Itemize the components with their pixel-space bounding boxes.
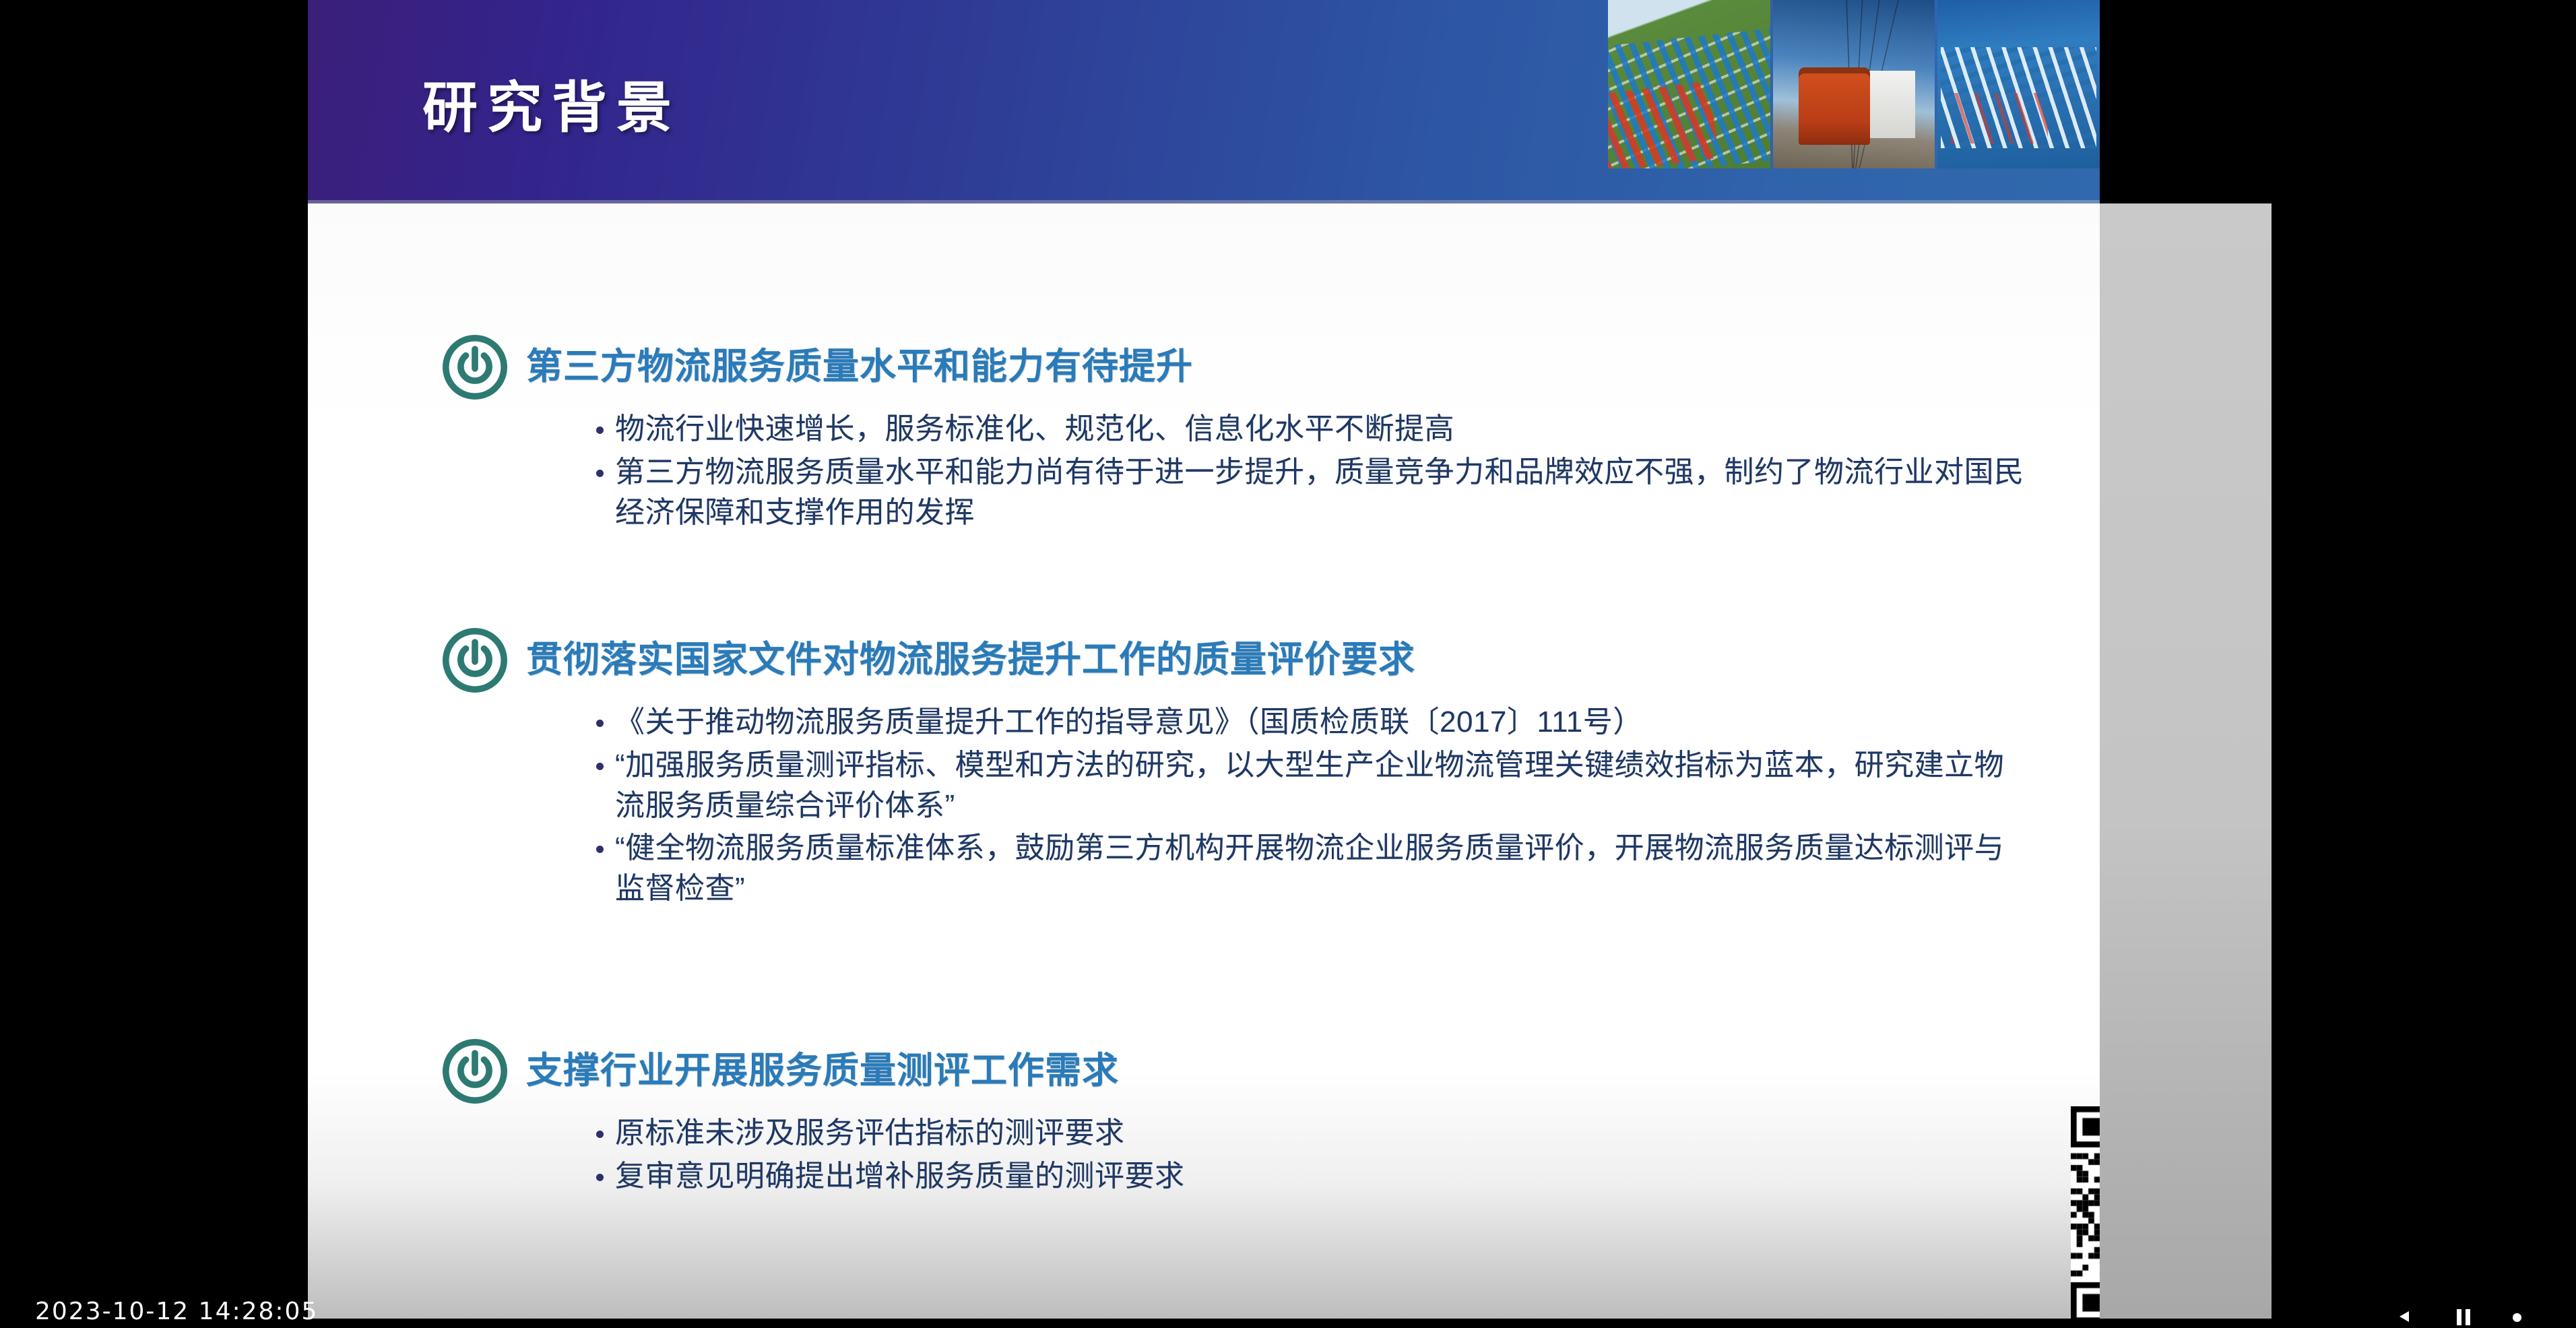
logistics-park-aerial-photo — [1608, 0, 1770, 168]
section-1-bullets: 物流行业快速增长，服务标准化、规范化、信息化水平不断提高 第三方物流服务质量水平… — [592, 409, 2026, 532]
presentation-slide: 研究背景 — [308, 0, 2100, 1319]
content-section-3: 支撑行业开展服务质量测评工作需求 原标准未涉及服务评估指标的测评要求 复审意见明… — [443, 1039, 2026, 1199]
content-section-1: 第三方物流服务质量水平和能力有待提升 物流行业快速增长，服务标准化、规范化、信息… — [443, 335, 2026, 535]
header-photo-strip — [1608, 0, 2100, 168]
player-controls — [2398, 1305, 2529, 1328]
bullet-item: 物流行业快速增长，服务标准化、规范化、信息化水平不断提高 — [592, 409, 2026, 449]
container-port-photo — [1937, 0, 2100, 168]
power-icon — [443, 628, 507, 693]
section-1-header: 第三方物流服务质量水平和能力有待提升 — [443, 335, 2026, 400]
section-2-title: 贯彻落实国家文件对物流服务提升工作的质量评价要求 — [526, 640, 1415, 680]
section-3-title: 支撑行业开展服务质量测评工作需求 — [526, 1051, 1119, 1091]
bullet-item: 第三方物流服务质量水平和能力尚有待于进一步提升，质量竞争力和品牌效应不强，制约了… — [592, 452, 2026, 533]
bullet-item: 《关于推动物流服务质量提升工作的指导意见》（国质检质联〔2017〕111号） — [592, 702, 2026, 742]
volume-icon[interactable] — [2398, 1305, 2421, 1328]
section-3-bullets: 原标准未涉及服务评估指标的测评要求 复审意见明确提出增补服务质量的测评要求 — [592, 1113, 2026, 1197]
page-title: 研究背景 — [422, 81, 681, 136]
truck-on-bridge-photo — [1773, 0, 1935, 168]
content-section-2: 贯彻落实国家文件对物流服务提升工作的质量评价要求 《关于推动物流服务质量提升工作… — [443, 628, 2026, 912]
section-3-header: 支撑行业开展服务质量测评工作需求 — [443, 1039, 2026, 1104]
section-2-bullets: 《关于推动物流服务质量提升工作的指导意见》（国质检质联〔2017〕111号） “… — [592, 702, 2026, 909]
bullet-item: 复审意见明确提出增补服务质量的测评要求 — [592, 1156, 2026, 1197]
video-stage: 研究背景 — [0, 0, 2576, 1319]
slide-header-band: 研究背景 — [308, 0, 2100, 203]
qr-code-image — [2071, 1106, 2100, 1319]
section-1-title: 第三方物流服务质量水平和能力有待提升 — [526, 347, 1193, 387]
truck-cab — [1799, 67, 1870, 145]
bullet-item: “加强服务质量测评指标、模型和方法的研究，以大型生产企业物流管理关键绩效指标为蓝… — [592, 745, 2026, 826]
player-timestamp: 2023-10-12 14:28:05 — [35, 1298, 318, 1325]
bullet-item: 原标准未涉及服务评估指标的测评要求 — [592, 1113, 2026, 1153]
slide-content-area: 第三方物流服务质量水平和能力有待提升 物流行业快速增长，服务标准化、规范化、信息… — [308, 203, 2100, 1319]
standard-fulltext-qr-code[interactable]: 标准全文查阅 — [2071, 1106, 2100, 1319]
power-icon — [443, 1039, 507, 1104]
power-icon — [443, 335, 507, 400]
section-2-header: 贯彻落实国家文件对物流服务提升工作的质量评价要求 — [443, 628, 2026, 693]
pause-icon[interactable] — [2452, 1305, 2475, 1328]
record-dot-icon[interactable] — [2506, 1305, 2529, 1328]
slide-side-pane — [2100, 203, 2272, 1319]
bullet-item: “健全物流服务质量标准体系，鼓励第三方机构开展物流企业服务质量评价，开展物流服务… — [592, 828, 2026, 909]
